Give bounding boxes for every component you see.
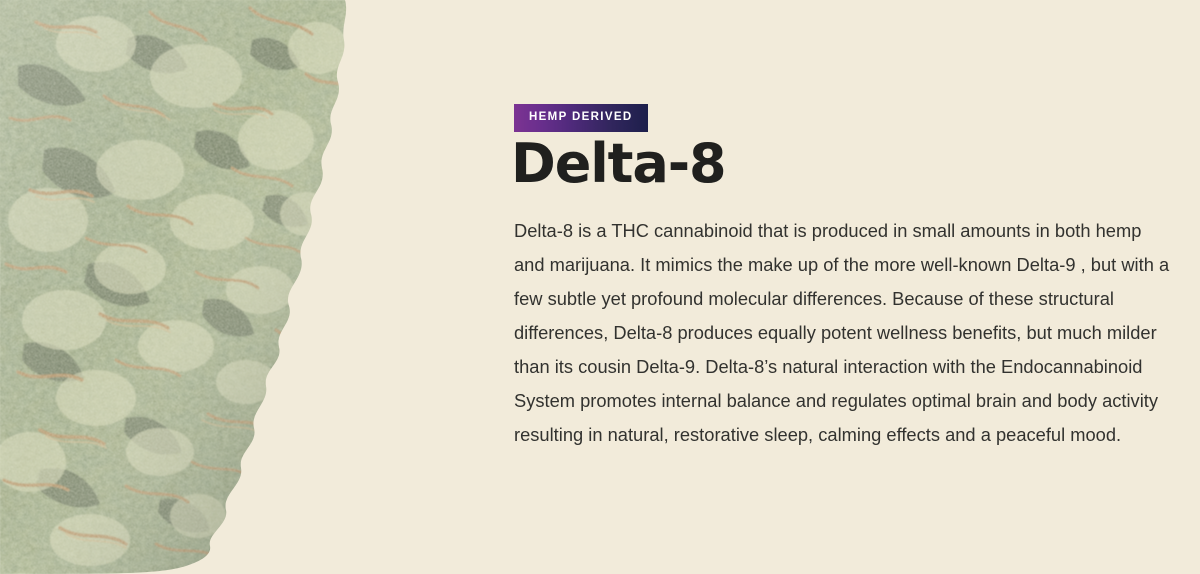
delta-8-info-panel: HEMP DERIVED Delta-8 Delta-8 is a THC ca… bbox=[0, 0, 1200, 574]
description-paragraph: Delta-8 is a THC cannabinoid that is pro… bbox=[514, 214, 1174, 452]
text-column: HEMP DERIVED Delta-8 Delta-8 is a THC ca… bbox=[514, 0, 1200, 574]
page-title: Delta-8 bbox=[511, 136, 726, 193]
cannabis-bud-illustration bbox=[0, 0, 360, 574]
cannabis-bud-image bbox=[0, 0, 360, 574]
status-badge: HEMP DERIVED bbox=[514, 104, 648, 132]
